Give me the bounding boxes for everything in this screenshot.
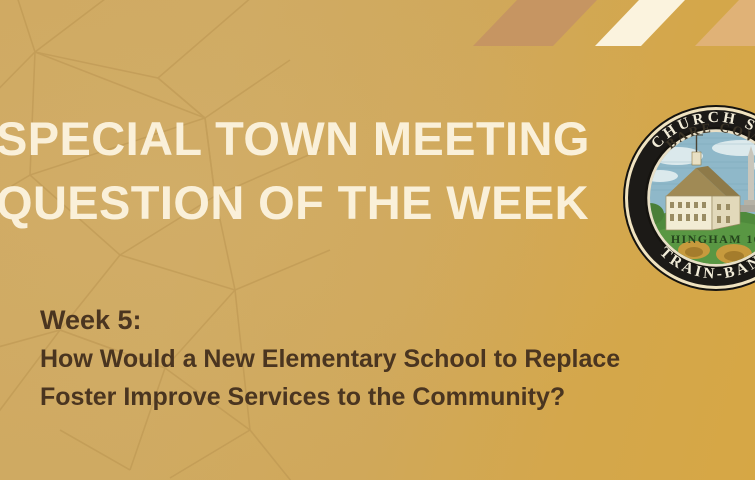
question-line-1: How Would a New Elementary School to Rep… — [40, 340, 755, 378]
title-line-1: SPECIAL TOWN MEETING — [0, 107, 636, 171]
slide-canvas: SPECIAL TOWN MEETING QUESTION OF THE WEE… — [0, 0, 755, 480]
seal-banner-text: HINGHAM 16 — [671, 232, 755, 246]
page-title: SPECIAL TOWN MEETING QUESTION OF THE WEE… — [0, 107, 636, 235]
town-seal-logo: HINGHAM 16 CHURCH SCH TRAIN-BAND TOW BAR… — [622, 104, 755, 292]
subtitle-block: Week 5: How Would a New Elementary Schoo… — [40, 300, 755, 416]
week-label: Week 5: — [40, 300, 755, 340]
question-line-2: Foster Improve Services to the Community… — [40, 378, 755, 416]
title-line-2: QUESTION OF THE WEEK — [0, 171, 636, 235]
